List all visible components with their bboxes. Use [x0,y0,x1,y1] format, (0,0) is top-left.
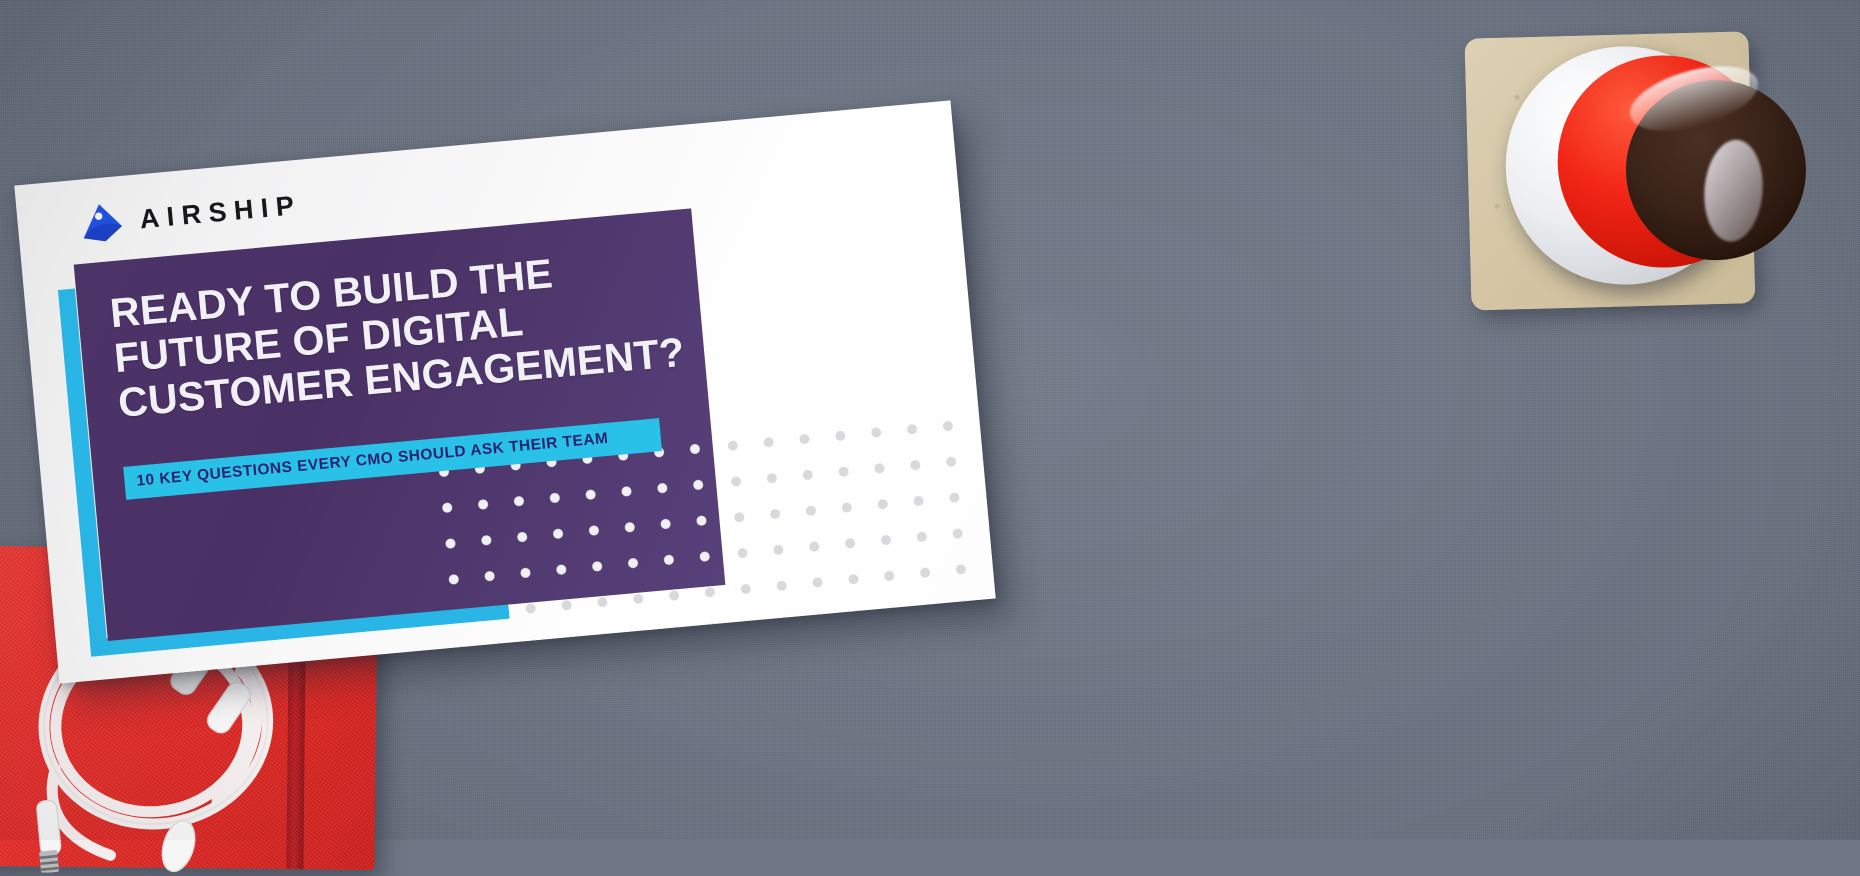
mug-rim [1555,53,1772,270]
brand-logo: AIRSHIP [78,184,303,246]
coffee-mug-group [1464,23,1823,322]
headline-panel: READY TO BUILD THE FUTURE OF DIGITAL CUS… [74,208,726,641]
coffee-reflection [1701,138,1767,244]
brand-wordmark: AIRSHIP [139,191,303,233]
headline: READY TO BUILD THE FUTURE OF DIGITAL CUS… [108,240,688,426]
brochure-card[interactable]: AIRSHIP READY TO BUILD THE FUTURE OF DIG… [14,100,995,683]
airship-logo-icon [78,200,126,246]
